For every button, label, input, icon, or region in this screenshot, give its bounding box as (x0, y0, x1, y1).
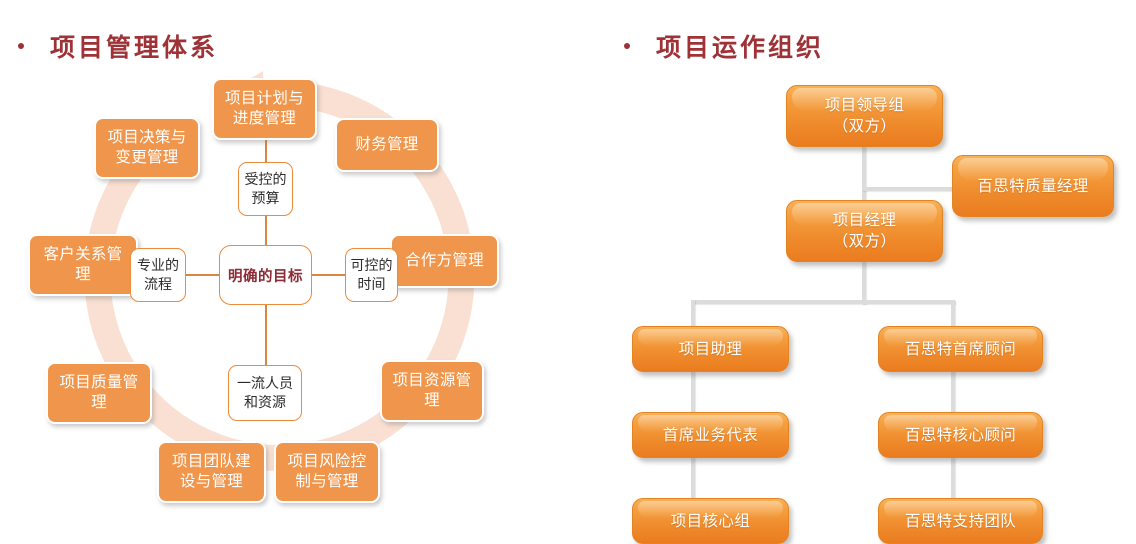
org-node-line2: （双方） (833, 231, 897, 252)
core-node-label: 明确的目标 (228, 265, 303, 286)
outer-node-risk-control-management[interactable]: 项目风险控 制与管理 (274, 441, 380, 503)
section-heading-left: 项目管理体系 (16, 28, 218, 64)
outer-node-finance-management[interactable]: 财务管理 (335, 118, 439, 172)
bullet-dot-icon (624, 43, 630, 49)
inner-node-line2: 时间 (351, 275, 393, 294)
org-node-project-manager[interactable]: 项目经理 （双方） (786, 200, 943, 262)
outer-node-line1: 项目质量管 (59, 373, 138, 393)
connector-manager-horizontal-bus (691, 300, 955, 304)
project-management-system-panel: 项目管理体系 明确的目标 受控的 预算 专业的 流程 (0, 0, 600, 532)
inner-node-line2: 和资源 (237, 393, 293, 412)
outer-node-line1: 项目风险控 (287, 452, 366, 472)
org-node-chief-business-representative[interactable]: 首席业务代表 (632, 412, 789, 458)
org-node-best-chief-consultant[interactable]: 百思特首席顾问 (878, 326, 1043, 372)
org-node-best-core-consultant[interactable]: 百思特核心顾问 (878, 412, 1043, 458)
org-chart: 项目领导组 （双方） 百思特质量经理 项目经理 （双方） 项目助理 百思特首席顾… (600, 62, 1136, 532)
outer-node-line2: 理 (59, 393, 138, 413)
connector-core-consultant-to-support-team (951, 456, 955, 500)
outer-node-line1: 项目决策与 (107, 128, 186, 148)
inner-node-line1: 一流人员 (237, 374, 293, 393)
outer-node-line1: 财务管理 (355, 135, 418, 155)
bullet-dot-icon (18, 43, 24, 49)
inner-node-controlled-budget[interactable]: 受控的 预算 (238, 162, 293, 216)
inner-node-line1: 受控的 (245, 170, 287, 189)
spoke-bottom (265, 305, 267, 367)
inner-node-line1: 专业的 (137, 256, 179, 275)
outer-node-line1: 项目团队建 (172, 452, 251, 472)
inner-node-line2: 预算 (245, 189, 287, 208)
outer-node-decision-change-management[interactable]: 项目决策与 变更管理 (94, 117, 200, 179)
cycle-diagram: 明确的目标 受控的 预算 专业的 流程 可控的 时间 一流人员 和资源 (0, 62, 600, 532)
project-operating-organization-panel: 项目运作组织 项目领导组 （双方） 百思特质量经理 项目经理 (600, 0, 1136, 532)
connector-bus-to-chief-consultant (951, 300, 955, 328)
outer-node-line1: 项目计划与 (225, 89, 304, 109)
outer-node-quality-management[interactable]: 项目质量管 理 (46, 362, 152, 424)
outer-node-line1: 合作方管理 (405, 251, 484, 271)
outer-node-line2: 理 (43, 265, 122, 285)
outer-node-partner-management[interactable]: 合作方管理 (390, 234, 499, 288)
connector-leader-to-quality-manager (862, 187, 966, 191)
connector-chief-to-core-consultant (951, 370, 955, 414)
connector-assistant-to-business-rep (691, 370, 695, 414)
outer-node-line2: 理 (392, 391, 471, 411)
org-node-line1: 百思特首席顾问 (905, 339, 1016, 360)
outer-node-line1: 项目资源管 (392, 371, 471, 391)
inner-node-line2: 流程 (137, 275, 179, 294)
heading-right-text: 项目运作组织 (656, 28, 824, 64)
org-node-line1: 百思特支持团队 (905, 511, 1016, 532)
outer-node-line2: 变更管理 (107, 148, 186, 168)
outer-node-customer-relationship-management[interactable]: 客户关系管 理 (28, 234, 138, 296)
inner-node-top-talent-resources[interactable]: 一流人员 和资源 (228, 365, 302, 421)
org-node-project-leadership-group[interactable]: 项目领导组 （双方） (786, 85, 943, 147)
inner-node-controllable-time[interactable]: 可控的 时间 (345, 248, 398, 302)
org-node-line1: 百思特核心顾问 (905, 425, 1016, 446)
org-node-line1: 项目助理 (679, 339, 743, 360)
heading-left-text: 项目管理体系 (50, 28, 218, 64)
outer-node-resource-management[interactable]: 项目资源管 理 (380, 360, 484, 422)
org-node-line1: 项目领导组 (825, 95, 905, 116)
connector-bus-to-assistant (691, 300, 695, 328)
org-node-line2: （双方） (825, 116, 905, 137)
outer-node-line2: 设与管理 (172, 472, 251, 492)
inner-node-professional-process[interactable]: 专业的 流程 (130, 248, 186, 302)
outer-node-line1: 客户关系管 (43, 245, 122, 265)
org-node-line1: 项目经理 (833, 210, 897, 231)
section-heading-right: 项目运作组织 (622, 28, 824, 64)
outer-node-line2: 制与管理 (287, 472, 366, 492)
outer-node-line2: 进度管理 (225, 109, 304, 129)
inner-node-line1: 可控的 (351, 256, 393, 275)
connector-business-rep-to-core-group (691, 456, 695, 500)
outer-node-team-building-management[interactable]: 项目团队建 设与管理 (157, 441, 266, 503)
org-node-best-quality-manager[interactable]: 百思特质量经理 (952, 155, 1114, 217)
org-node-project-assistant[interactable]: 项目助理 (632, 326, 789, 372)
org-node-line1: 项目核心组 (671, 511, 751, 532)
core-node-clear-goal[interactable]: 明确的目标 (219, 245, 312, 305)
org-node-line1: 首席业务代表 (663, 425, 758, 446)
connector-manager-down (862, 262, 866, 304)
outer-node-plan-schedule-management[interactable]: 项目计划与 进度管理 (212, 78, 317, 140)
org-node-best-support-team[interactable]: 百思特支持团队 (878, 498, 1043, 544)
org-node-line1: 百思特质量经理 (977, 176, 1088, 197)
org-node-project-core-group[interactable]: 项目核心组 (632, 498, 789, 544)
